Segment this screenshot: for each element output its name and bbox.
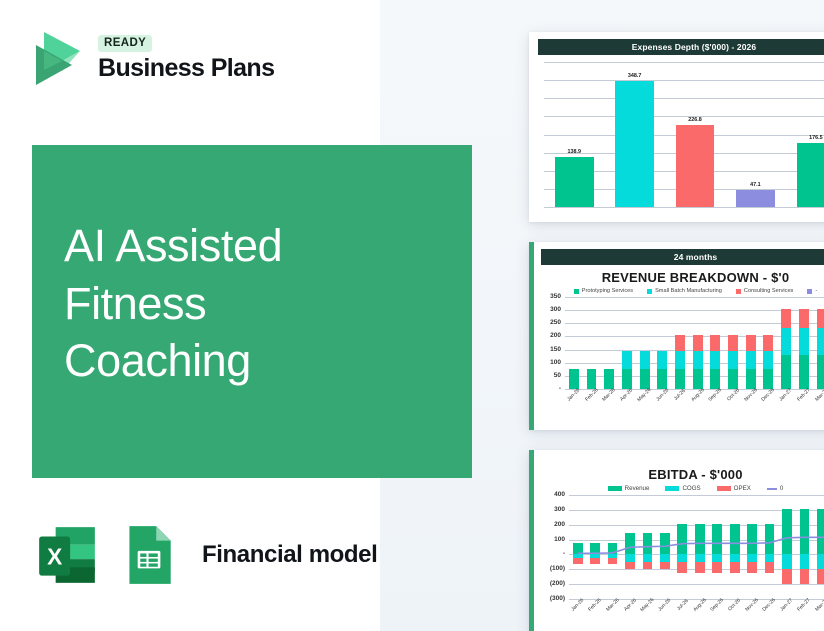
x-label-slot: May-26 bbox=[636, 392, 654, 398]
bar-group: 138.9348.7226.847.1176.5 bbox=[544, 62, 824, 207]
legend-swatch bbox=[736, 289, 741, 294]
bar[interactable] bbox=[555, 157, 594, 207]
x-label-slot: Jul-26 bbox=[674, 602, 691, 608]
hero-panel: AI Assisted Fitness Coaching bbox=[32, 145, 472, 478]
legend-label: Revenue bbox=[625, 485, 650, 492]
stacked-bar[interactable] bbox=[763, 297, 773, 389]
stack-segment bbox=[781, 355, 791, 389]
plot-area-revenue: 35030025020015010050-Jan-26Feb-26Mar-26A… bbox=[541, 297, 824, 407]
y-axis-tick-label: - bbox=[541, 386, 561, 393]
legend-item[interactable]: Consulting Services bbox=[736, 288, 793, 294]
stack-segment bbox=[728, 369, 738, 389]
stacked-bar[interactable] bbox=[622, 297, 632, 389]
x-label-slot: Jan-27 bbox=[778, 602, 795, 608]
bar-slot: 348.7 bbox=[604, 62, 664, 207]
legend-label: - bbox=[815, 288, 817, 294]
x-label-slot: Dec-26 bbox=[760, 392, 778, 398]
x-label-slot: Mar-27 bbox=[813, 392, 824, 398]
chart-title-ebitda: EBITDA - $'000 bbox=[541, 467, 824, 482]
chart-card-expenses-depth[interactable]: Expenses Depth ($'000) - 2026 138.9348.7… bbox=[529, 32, 824, 222]
stack-segment bbox=[675, 351, 685, 369]
double-play-triangle-logo bbox=[28, 28, 86, 88]
stack-segment bbox=[799, 309, 809, 328]
legend-item[interactable]: OPEX bbox=[717, 485, 751, 492]
x-label-slot: Jan-26 bbox=[565, 392, 583, 398]
footer-row: X Financial model bbox=[34, 522, 377, 588]
bar-slot: 226.8 bbox=[665, 62, 725, 207]
stacked-bar[interactable] bbox=[693, 297, 703, 389]
y-axis-tick-label: 150 bbox=[541, 347, 561, 354]
x-axis-labels: Jan-26Feb-26Mar-26Apr-26May-26Jun-26Jul-… bbox=[565, 392, 824, 398]
svg-text:X: X bbox=[47, 543, 62, 569]
chart-card-ebitda[interactable]: EBITDA - $'000 RevenueCOGSOPEX0 40030020… bbox=[529, 450, 824, 631]
chart-title-revenue-breakdown: REVENUE BREAKDOWN - $'0 bbox=[541, 270, 824, 285]
x-label-slot: Mar-26 bbox=[604, 602, 621, 608]
chart-legend-revenue[interactable]: Prototyping ServicesSmall Batch Manufact… bbox=[541, 288, 824, 294]
legend-item[interactable]: Small Batch Manufacturing bbox=[647, 288, 722, 294]
x-label-slot: May-26 bbox=[639, 602, 656, 608]
x-label-slot: Feb-27 bbox=[795, 392, 813, 398]
stack-segment bbox=[622, 369, 632, 389]
ready-badge: READY bbox=[98, 35, 152, 53]
x-label-slot: Jan-26 bbox=[569, 602, 586, 608]
trend-line-series bbox=[541, 495, 824, 599]
bar[interactable] bbox=[676, 125, 715, 207]
stack-segment bbox=[728, 351, 738, 369]
y-axis-tick-label: 250 bbox=[541, 320, 561, 327]
bar-value-label: 348.7 bbox=[628, 73, 642, 79]
y-axis-tick-label: 300 bbox=[541, 307, 561, 314]
bar[interactable] bbox=[615, 81, 654, 207]
stack-segment bbox=[693, 335, 703, 351]
legend-label: 0 bbox=[780, 485, 783, 492]
stack-segment bbox=[781, 309, 791, 328]
x-label-slot: Mar-27 bbox=[813, 602, 824, 608]
chart-banner-24-months: 24 months bbox=[541, 249, 824, 265]
legend-swatch bbox=[665, 486, 679, 491]
bar[interactable] bbox=[797, 143, 824, 207]
legend-item[interactable]: Revenue bbox=[608, 485, 650, 492]
x-label-slot: Nov-26 bbox=[743, 602, 760, 608]
x-axis-tick-label: Jul-26 bbox=[673, 388, 687, 402]
stack-segment bbox=[675, 335, 685, 351]
stack-segment bbox=[817, 355, 824, 389]
x-label-slot: Feb-26 bbox=[586, 602, 603, 608]
legend-swatch bbox=[647, 289, 652, 294]
x-label-slot: Jun-26 bbox=[656, 602, 673, 608]
y-axis-tick-label: 200 bbox=[541, 333, 561, 340]
plot-area-ebitda: 400300200100-(100)(200)(300)Jan-26Feb-26… bbox=[541, 495, 824, 617]
stack-segment bbox=[763, 369, 773, 389]
bar-value-label: 176.5 bbox=[809, 135, 823, 141]
stack-segment bbox=[799, 355, 809, 389]
stacked-bar[interactable] bbox=[746, 297, 756, 389]
y-axis-tick-label: 350 bbox=[541, 294, 561, 301]
google-sheets-icon bbox=[115, 522, 181, 588]
stack-segment bbox=[657, 351, 667, 369]
stack-segment bbox=[710, 369, 720, 389]
bar-value-label: 226.8 bbox=[688, 117, 702, 123]
legend-item[interactable]: 0 bbox=[767, 485, 783, 492]
x-axis-tick-label: Jul-26 bbox=[675, 598, 689, 612]
legend-swatch bbox=[807, 289, 812, 294]
x-label-slot: Dec-26 bbox=[761, 602, 778, 608]
chart-title-bar-expenses: Expenses Depth ($'000) - 2026 bbox=[538, 39, 824, 55]
stack-segment bbox=[604, 369, 614, 389]
stack-segment bbox=[675, 369, 685, 389]
legend-swatch bbox=[717, 486, 731, 491]
legend-item[interactable]: COGS bbox=[665, 485, 700, 492]
x-label-slot: Jan-27 bbox=[777, 392, 795, 398]
footer-label: Financial model bbox=[202, 541, 377, 569]
legend-label: OPEX bbox=[734, 485, 751, 492]
legend-line-swatch bbox=[767, 488, 777, 490]
stack-segment bbox=[746, 351, 756, 369]
stacked-bar[interactable] bbox=[604, 297, 614, 389]
legend-item[interactable]: - bbox=[807, 288, 817, 294]
stack-segment bbox=[657, 369, 667, 389]
stack-segment bbox=[817, 309, 824, 328]
chart-legend-ebitda[interactable]: RevenueCOGSOPEX0 bbox=[541, 485, 824, 492]
stack-segment bbox=[569, 369, 579, 389]
slide-canvas: READY Business Plans AI Assisted Fitness… bbox=[0, 0, 824, 631]
stacked-bar[interactable] bbox=[799, 297, 809, 389]
stack-segment bbox=[728, 335, 738, 351]
stacked-bar[interactable] bbox=[569, 297, 579, 389]
legend-swatch bbox=[608, 486, 622, 491]
x-label-slot: Aug-26 bbox=[689, 392, 707, 398]
x-label-slot: Oct-26 bbox=[726, 602, 743, 608]
brand-lockup: READY Business Plans bbox=[28, 28, 274, 88]
plot-area-expenses: 138.9348.7226.847.1176.5 bbox=[538, 62, 824, 207]
bar-value-label: 47.1 bbox=[750, 182, 761, 188]
stacked-bar[interactable] bbox=[675, 297, 685, 389]
stack-segment bbox=[710, 335, 720, 351]
bar-slot: 176.5 bbox=[786, 62, 824, 207]
x-label-slot: Apr-26 bbox=[621, 602, 638, 608]
stacked-bar[interactable] bbox=[640, 297, 650, 389]
stacked-bar[interactable] bbox=[710, 297, 720, 389]
legend-label: COGS bbox=[682, 485, 700, 492]
page-title: AI Assisted Fitness Coaching bbox=[64, 217, 444, 390]
x-label-slot: Jul-26 bbox=[671, 392, 689, 398]
x-label-slot: Mar-26 bbox=[600, 392, 618, 398]
x-label-slot: Oct-26 bbox=[724, 392, 742, 398]
stack-segment bbox=[817, 328, 824, 356]
y-axis-tick-label: 50 bbox=[541, 373, 561, 380]
stacked-bar[interactable] bbox=[781, 297, 791, 389]
x-label-slot: Apr-26 bbox=[618, 392, 636, 398]
stack-segment bbox=[640, 351, 650, 369]
x-label-slot: Sep-26 bbox=[707, 392, 725, 398]
legend-swatch bbox=[574, 289, 579, 294]
legend-label: Small Batch Manufacturing bbox=[655, 288, 722, 294]
brand-text: READY Business Plans bbox=[98, 35, 274, 82]
stack-segment bbox=[763, 335, 773, 351]
stack-segment bbox=[693, 351, 703, 369]
x-label-slot: Nov-26 bbox=[742, 392, 760, 398]
stack-segment bbox=[799, 328, 809, 356]
stack-segment bbox=[746, 335, 756, 351]
gridline bbox=[544, 207, 824, 208]
stacked-bar[interactable] bbox=[657, 297, 667, 389]
y-axis-tick-label: 100 bbox=[541, 360, 561, 367]
x-label-slot: Aug-26 bbox=[691, 602, 708, 608]
microsoft-excel-icon: X bbox=[34, 522, 100, 588]
x-label-slot: Feb-26 bbox=[583, 392, 601, 398]
legend-item[interactable]: Prototyping Services bbox=[574, 288, 633, 294]
legend-label: Consulting Services bbox=[744, 288, 793, 294]
stack-segment bbox=[763, 351, 773, 369]
bar[interactable] bbox=[736, 190, 775, 207]
chart-card-revenue-breakdown[interactable]: 24 months REVENUE BREAKDOWN - $'0 Protot… bbox=[529, 242, 824, 430]
bar-value-label: 138.9 bbox=[567, 149, 581, 155]
stacked-bar[interactable] bbox=[728, 297, 738, 389]
x-axis-labels: Jan-26Feb-26Mar-26Apr-26May-26Jun-26Jul-… bbox=[569, 602, 824, 608]
bar-slot: 138.9 bbox=[544, 62, 604, 207]
x-label-slot: Feb-27 bbox=[796, 602, 813, 608]
stack-segment bbox=[622, 351, 632, 369]
bar-slot: 47.1 bbox=[725, 62, 785, 207]
stack-segment bbox=[781, 328, 791, 356]
x-label-slot: Sep-26 bbox=[709, 602, 726, 608]
brand-name: Business Plans bbox=[98, 55, 274, 81]
x-label-slot: Jun-26 bbox=[653, 392, 671, 398]
stack-segment bbox=[710, 351, 720, 369]
stacked-bar[interactable] bbox=[817, 297, 824, 389]
legend-label: Prototyping Services bbox=[582, 288, 633, 294]
stacked-bar[interactable] bbox=[587, 297, 597, 389]
